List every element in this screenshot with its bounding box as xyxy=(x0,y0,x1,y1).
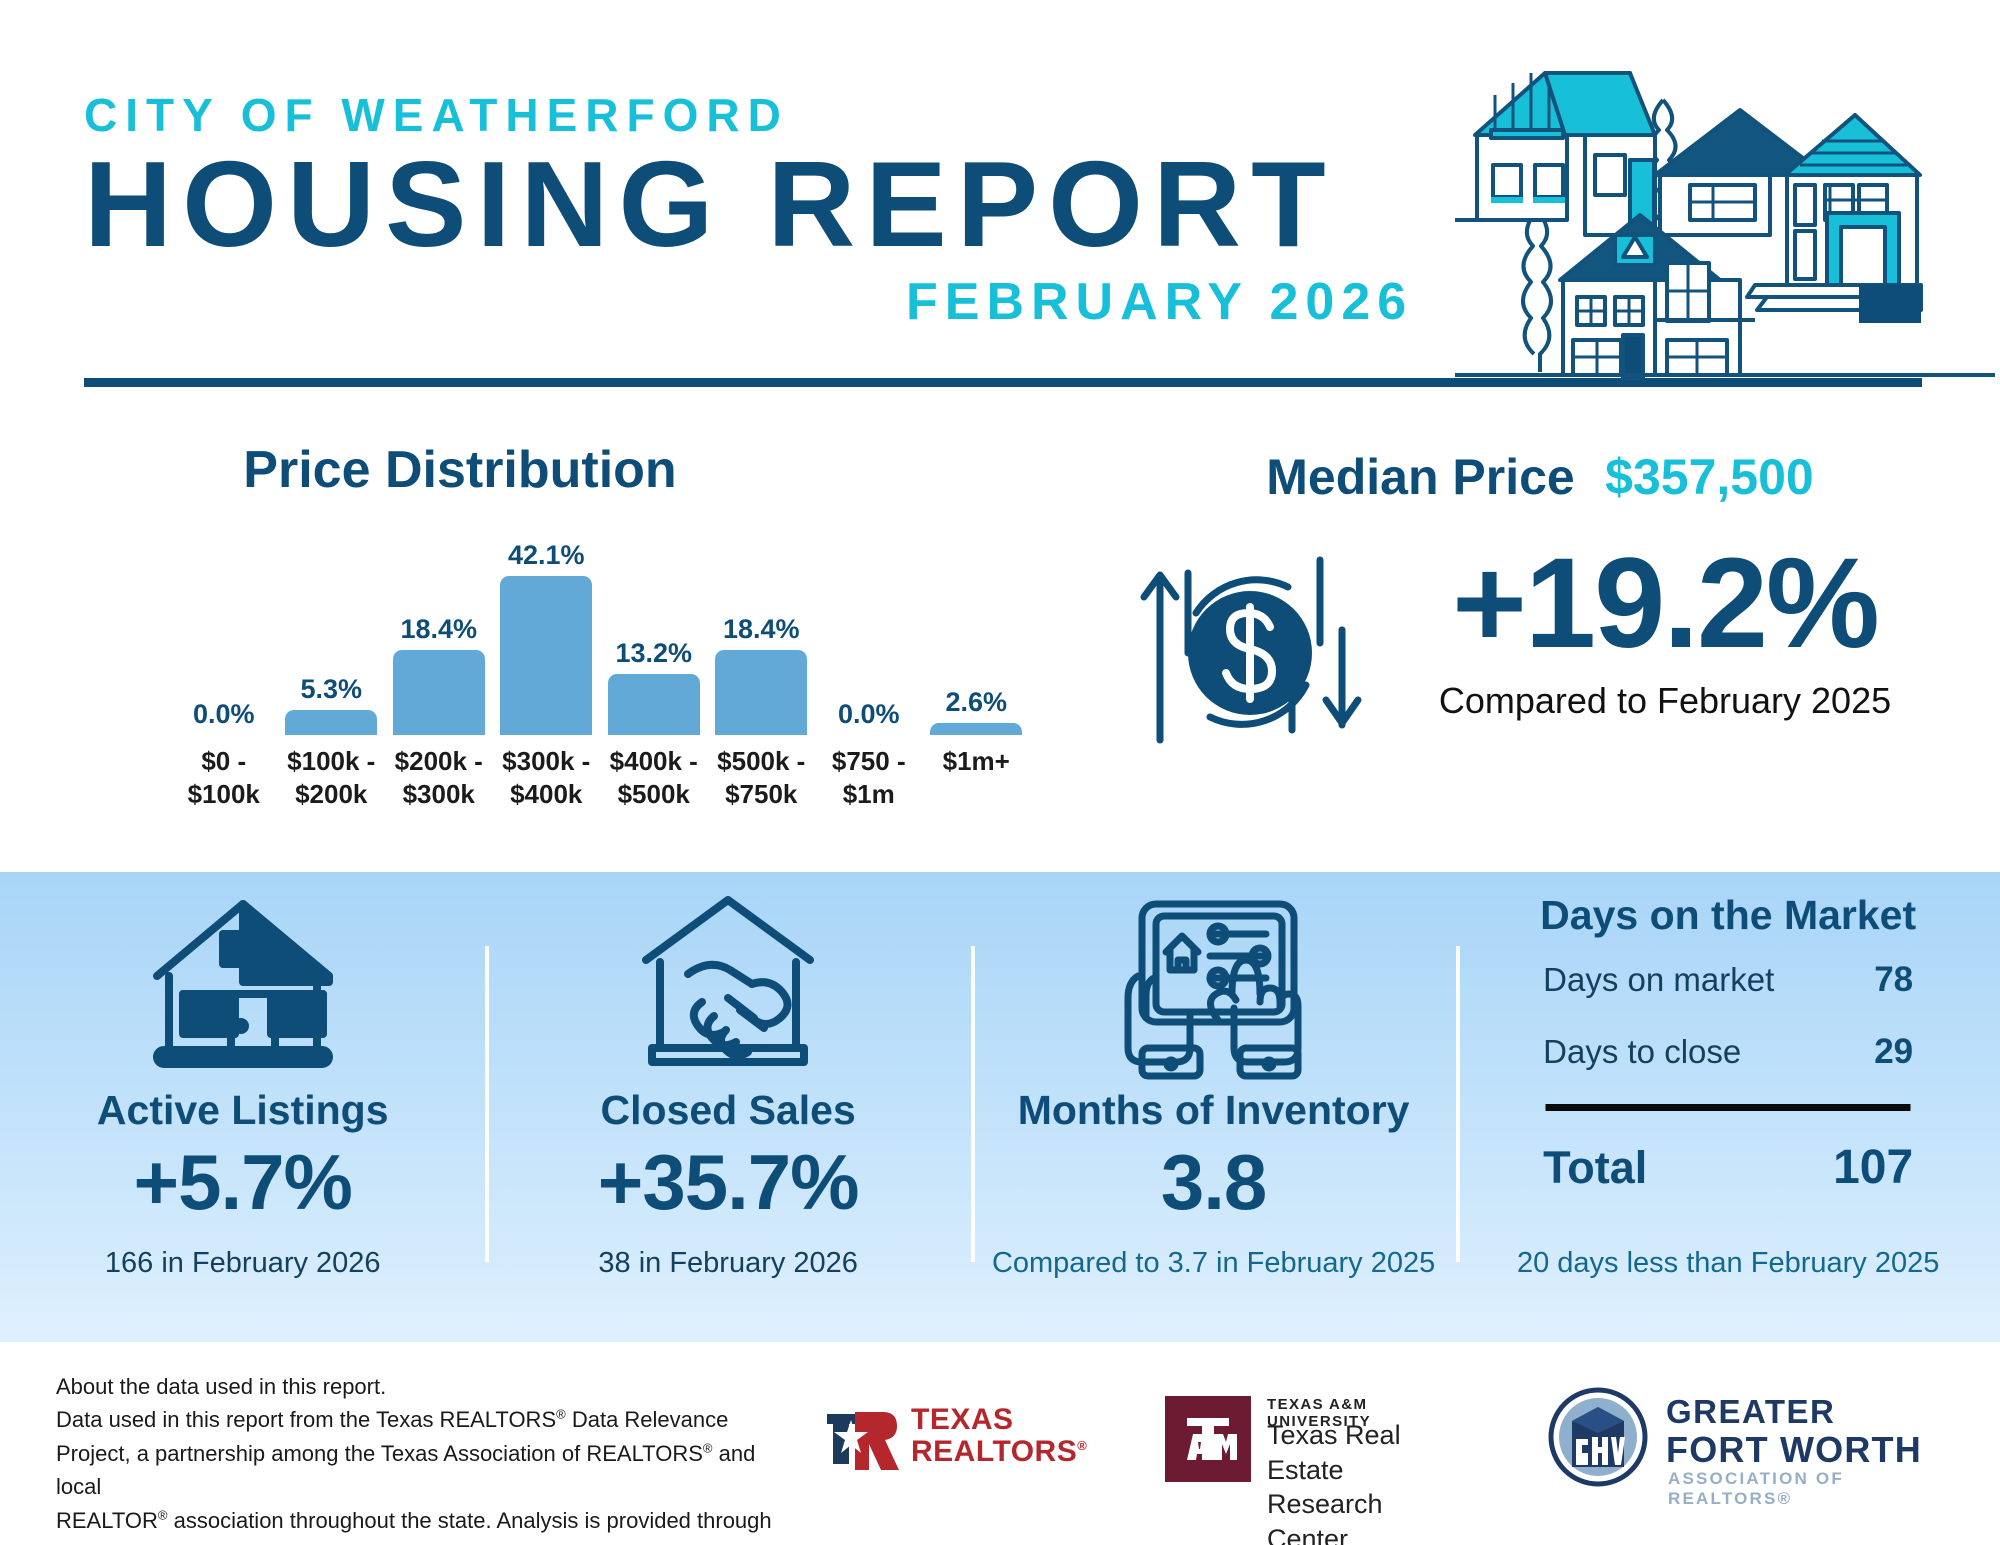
x-tick-label: $300k - $400k xyxy=(493,745,601,845)
tamu-shield-icon xyxy=(1165,1396,1251,1482)
texas-realtors-wordmark: TEXAS REALTORS® xyxy=(911,1404,1087,1468)
about-line-2b: Data Relevance xyxy=(566,1407,729,1432)
about-line-3a: Project, a partnership among the Texas A… xyxy=(56,1441,703,1466)
row-value: 78 xyxy=(1874,960,1913,1000)
gfw-seal-icon xyxy=(1548,1387,1648,1487)
about-line-1: About the data used in this report. xyxy=(56,1370,786,1403)
house-icon xyxy=(143,890,343,1080)
greater-fort-worth-logo: GREATER FORT WORTH ASSOCIATION OF REALTO… xyxy=(1548,1387,1968,1492)
tamu-line1: Texas Real Estate xyxy=(1267,1418,1465,1487)
stat-title: Closed Sales xyxy=(485,1087,970,1134)
x-tick-label: $400k - $500k xyxy=(600,745,708,845)
median-price-comparison: Compared to February 2025 xyxy=(1370,680,1960,722)
about-line-4a: REALTOR xyxy=(56,1508,158,1533)
stat-subtext: 38 in February 2026 xyxy=(485,1247,970,1280)
total-separator xyxy=(1546,1104,1911,1111)
texas-realtors-logo: TEXAS REALTORS® xyxy=(825,1402,1085,1482)
tamu-center-name: Texas Real Estate Research Center xyxy=(1267,1418,1465,1545)
x-tick-line2: $500k xyxy=(600,778,708,811)
x-tick-label: $500k - $750k xyxy=(708,745,816,845)
median-price-value: $357,500 xyxy=(1605,449,1814,505)
total-label: Total xyxy=(1543,1142,1647,1194)
bar-group: 18.4% xyxy=(708,540,816,735)
about-line-3: Project, a partnership among the Texas A… xyxy=(56,1437,786,1504)
chart-title: Price Distribution xyxy=(60,440,860,500)
row-value: 29 xyxy=(1874,1032,1913,1072)
x-tick-line1: $0 - xyxy=(170,745,278,778)
bar-group: 18.4% xyxy=(385,540,493,735)
bar-value-label: 13.2% xyxy=(615,638,692,669)
texas-realtors-mark-icon xyxy=(825,1406,901,1472)
bar-value-label: 0.0% xyxy=(838,699,900,730)
tamu-research-center-logo: TEXAS A&M UNIVERSITY Texas Real Estate R… xyxy=(1165,1392,1465,1492)
bar-value-label: 42.1% xyxy=(508,540,585,571)
tablet-controls-icon xyxy=(1114,890,1314,1080)
x-tick-line1: $1m+ xyxy=(923,745,1031,778)
bar xyxy=(500,576,592,735)
bar xyxy=(608,674,700,735)
bar-value-label: 5.3% xyxy=(300,674,362,705)
bar-value-label: 0.0% xyxy=(193,699,255,730)
stat-value: +5.7% xyxy=(0,1137,485,1228)
band-divider xyxy=(1456,946,1460,1262)
stat-subtext: Compared to 3.7 in February 2025 xyxy=(971,1247,1456,1280)
total-value: 107 xyxy=(1833,1140,1913,1195)
header-month: FEBRUARY 2026 xyxy=(906,272,1413,332)
chart-bars: 0.0% 5.3% 18.4% 42.1% 13.2% 18.4% xyxy=(170,540,1030,735)
stat-value: 3.8 xyxy=(971,1137,1456,1228)
about-line-4: REALTOR® association throughout the stat… xyxy=(56,1504,786,1545)
stat-title: Months of Inventory xyxy=(971,1087,1456,1134)
bar-value-label: 2.6% xyxy=(945,687,1007,718)
about-line-2: Data used in this report from the Texas … xyxy=(56,1403,786,1436)
gfw-line3: ASSOCIATION OF REALTORS® xyxy=(1668,1469,1968,1509)
median-price-panel: Median Price $357,500 xyxy=(1120,420,1960,860)
row-label: Days on market xyxy=(1543,961,1774,999)
gfw-line1: GREATER xyxy=(1666,1393,1835,1431)
tr-line1: TEXAS xyxy=(911,1404,1087,1436)
stats-band: Active Listings +5.7% 166 in February 20… xyxy=(0,872,2000,1342)
x-tick-line2: $300k xyxy=(385,778,493,811)
bar-group: 5.3% xyxy=(278,540,386,735)
footer: About the data used in this report. Data… xyxy=(0,1342,2000,1545)
days-to-close-row: Days to close 29 xyxy=(1543,1032,1913,1072)
x-tick-line1: $500k - xyxy=(708,745,816,778)
about-data-text: About the data used in this report. Data… xyxy=(56,1370,786,1545)
bar-group: 0.0% xyxy=(170,540,278,735)
days-on-market-row: Days on market 78 xyxy=(1543,960,1913,1000)
x-tick-line1: $750 - xyxy=(815,745,923,778)
stat-value: +35.7% xyxy=(485,1137,970,1228)
x-tick-line1: $100k - xyxy=(278,745,386,778)
x-tick-line2: $100k xyxy=(170,778,278,811)
bar xyxy=(285,710,377,735)
x-tick-label: $200k - $300k xyxy=(385,745,493,845)
days-on-market-title: Days on the Market xyxy=(1456,892,2000,939)
bar-group: 42.1% xyxy=(493,540,601,735)
bar-value-label: 18.4% xyxy=(400,614,477,645)
bar-group: 0.0% xyxy=(815,540,923,735)
header-city: CITY OF WEATHERFORD xyxy=(84,88,789,142)
gfw-line2: FORT WORTH xyxy=(1666,1429,1922,1471)
x-tick-line1: $300k - xyxy=(493,745,601,778)
bar xyxy=(393,650,485,735)
bar-group: 13.2% xyxy=(600,540,708,735)
x-tick-label: $0 - $100k xyxy=(170,745,278,845)
median-price-heading: Median Price $357,500 xyxy=(1120,448,1960,506)
stat-title: Active Listings xyxy=(0,1087,485,1134)
x-tick-line1: $200k - xyxy=(385,745,493,778)
dollar-circulation-icon xyxy=(1130,535,1370,765)
x-tick-label: $750 - $1m xyxy=(815,745,923,845)
row-label: Days to close xyxy=(1543,1033,1741,1071)
median-price-change: +19.2% xyxy=(1370,530,1960,677)
median-price-label: Median Price xyxy=(1266,449,1574,505)
days-total-row: Total 107 xyxy=(1543,1140,1913,1195)
tr-line2: REALTORS xyxy=(911,1435,1077,1468)
bar-group: 2.6% xyxy=(923,540,1031,735)
stat-card-months-inventory: Months of Inventory 3.8 Compared to 3.7 … xyxy=(971,872,1456,1342)
price-distribution-chart: Price Distribution 0.0% 5.3% 18.4% 42.1%… xyxy=(60,420,1120,860)
stat-card-days-on-market: Days on the Market Days on market 78 Day… xyxy=(1456,872,2000,1342)
days-on-market-subtext: 20 days less than February 2025 xyxy=(1456,1247,2000,1280)
stat-card-closed-sales: Closed Sales +35.7% 38 in February 2026 xyxy=(485,872,970,1342)
about-line-2a: Data used in this report from the Texas … xyxy=(56,1407,556,1432)
bar xyxy=(715,650,807,735)
stat-subtext: 166 in February 2026 xyxy=(0,1247,485,1280)
x-tick-line2: $1m xyxy=(815,778,923,811)
x-tick-line2: $750k xyxy=(708,778,816,811)
bar xyxy=(930,723,1022,735)
houses-illustration-icon xyxy=(1455,35,1995,380)
tamu-line2: Research Center xyxy=(1267,1487,1465,1545)
page-title: HOUSING REPORT xyxy=(84,140,1336,268)
housing-report-infographic: CITY OF WEATHERFORD HOUSING REPORT FEBRU… xyxy=(0,0,2000,1545)
x-tick-line2: $200k xyxy=(278,778,386,811)
x-tick-line1: $400k - xyxy=(600,745,708,778)
header: CITY OF WEATHERFORD HOUSING REPORT FEBRU… xyxy=(0,0,2000,390)
stat-card-active-listings: Active Listings +5.7% 166 in February 20… xyxy=(0,872,485,1342)
x-tick-line2: $400k xyxy=(493,778,601,811)
x-tick-label: $100k - $200k xyxy=(278,745,386,845)
bar-value-label: 18.4% xyxy=(723,614,800,645)
chart-x-axis-labels: $0 - $100k $100k - $200k $200k - $300k $… xyxy=(170,745,1030,845)
x-tick-label: $1m+ xyxy=(923,745,1031,845)
handshake-house-icon xyxy=(628,890,828,1080)
